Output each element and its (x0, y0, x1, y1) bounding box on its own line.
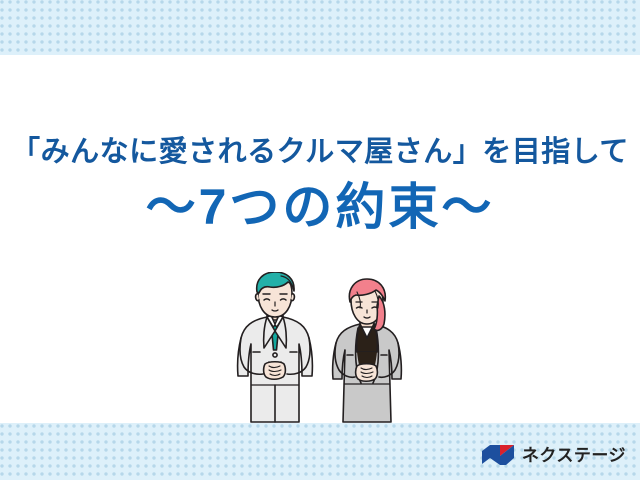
female-hands (356, 364, 378, 382)
nextage-n-logo-icon (481, 444, 515, 466)
promo-banner: 「みんなに愛されるクルマ屋さん」を目指して ～7つの約束～ (0, 0, 640, 480)
female-staff-figure (333, 279, 402, 422)
male-hands (264, 362, 286, 380)
staff-illustration (236, 272, 412, 424)
male-staff-figure (238, 272, 313, 422)
headline-line-2: ～7つの約束～ (0, 181, 640, 234)
nextage-logo-text: ネクステージ (522, 447, 626, 464)
headline-line-1: 「みんなに愛されるクルマ屋さん」を目指して (0, 128, 640, 170)
nextage-logo: ネクステージ (481, 440, 626, 470)
